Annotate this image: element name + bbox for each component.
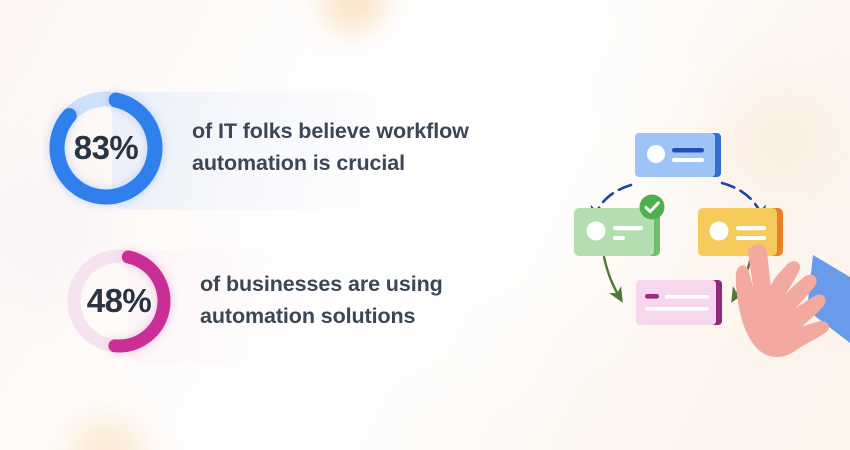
stat-text-it-folks: of IT folks believe workflow automation … [192, 116, 469, 180]
decor-blob-top [312, 0, 396, 42]
stat-text-businesses: of businesses are using automation solut… [200, 269, 443, 333]
card-top [635, 133, 721, 177]
stat-text-line: automation is crucial [192, 148, 469, 180]
card-bottom [636, 280, 722, 325]
card-top-avatar [647, 145, 665, 163]
arrow-left-to-bottom [604, 257, 620, 298]
stat-row-it-folks: 83% of IT folks believe workflow automat… [42, 84, 469, 212]
infographic-canvas: 83% of IT folks believe workflow automat… [0, 0, 850, 450]
donut-label-83: 83% [42, 84, 170, 212]
decor-blob-bottom-left [58, 410, 158, 450]
stat-text-line: automation solutions [200, 301, 443, 333]
donut-chart-83: 83% [42, 84, 170, 212]
check-badge [640, 195, 665, 220]
stat-text-line: of businesses are using [200, 269, 443, 301]
card-left-avatar [587, 222, 606, 241]
donut-label-48: 48% [60, 242, 178, 360]
donut-chart-48: 48% [60, 242, 178, 360]
stat-text-line: of IT folks believe workflow [192, 116, 469, 148]
hand-grabbing-card [736, 244, 850, 357]
workflow-automation-illustration [555, 105, 850, 360]
card-right [698, 208, 783, 256]
stat-row-businesses: 48% of businesses are using automation s… [60, 242, 443, 360]
card-right-avatar [710, 222, 729, 241]
